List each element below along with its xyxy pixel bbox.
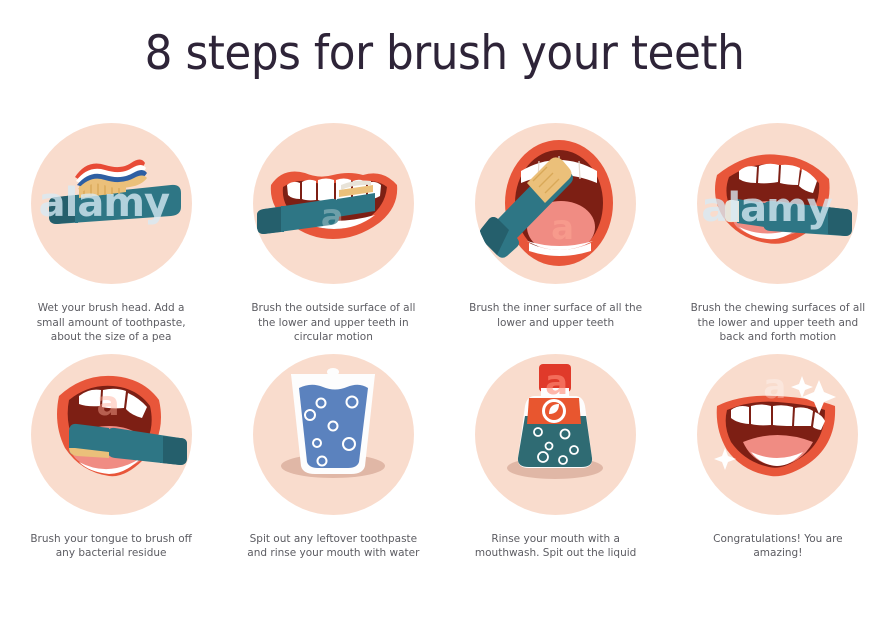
step-card-7[interactable]: a Rinse your mouth with a mouthwash. Spi…: [445, 354, 667, 561]
step-illustration-4: alamy: [697, 123, 858, 284]
infographic-page: 8 steps for brush your teeth: [0, 0, 889, 619]
step-caption-4: Brush the chewing surfaces of all the lo…: [689, 301, 867, 345]
toothbrush-with-paste-icon: [31, 123, 192, 284]
mouth-brushing-inner-icon: [475, 123, 636, 284]
steps-row-2: a Brush your tongue to brush off any bac…: [0, 354, 889, 561]
mouth-brushing-chewing-icon: [697, 123, 858, 284]
mouth-brushing-outside-icon: [253, 123, 414, 284]
step-illustration-5: a: [31, 354, 192, 515]
page-title: 8 steps for brush your teeth: [31, 26, 858, 81]
step-card-6[interactable]: Spit out any leftover toothpaste and rin…: [222, 354, 444, 561]
glass-of-water-icon: [253, 354, 414, 515]
steps-grid: alamy Wet your brush head. Add a small a…: [0, 123, 889, 561]
step-card-5[interactable]: a Brush your tongue to brush off any bac…: [0, 354, 222, 561]
step-caption-5: Brush your tongue to brush off any bacte…: [22, 532, 200, 561]
mouthwash-bottle-icon: [475, 354, 636, 515]
step-illustration-6: [253, 354, 414, 515]
step-illustration-8: a: [697, 354, 858, 515]
step-caption-1: Wet your brush head. Add a small amount …: [22, 301, 200, 345]
step-caption-6: Spit out any leftover toothpaste and rin…: [244, 532, 422, 561]
steps-row-1: alamy Wet your brush head. Add a small a…: [0, 123, 889, 345]
smiling-mouth-sparkle-icon: [697, 354, 858, 515]
step-card-4[interactable]: alamy Brush the chewing surfaces of all …: [667, 123, 889, 345]
step-caption-7: Rinse your mouth with a mouthwash. Spit …: [467, 532, 645, 561]
step-caption-8: Congratulations! You are amazing!: [689, 532, 867, 561]
step-illustration-1: alamy: [31, 123, 192, 284]
step-caption-2: Brush the outside surface of all the low…: [244, 301, 422, 345]
step-card-1[interactable]: alamy Wet your brush head. Add a small a…: [0, 123, 222, 345]
step-card-3[interactable]: a Brush the inner surface of all the low…: [445, 123, 667, 345]
step-illustration-3: a: [475, 123, 636, 284]
mouth-brushing-tongue-icon: [31, 354, 192, 515]
step-illustration-7: a: [475, 354, 636, 515]
step-card-2[interactable]: a Brush the outside surface of all the l…: [222, 123, 444, 345]
step-card-8[interactable]: a Congratulations! You are amazing!: [667, 354, 889, 561]
step-illustration-2: a: [253, 123, 414, 284]
step-caption-3: Brush the inner surface of all the lower…: [467, 301, 645, 330]
